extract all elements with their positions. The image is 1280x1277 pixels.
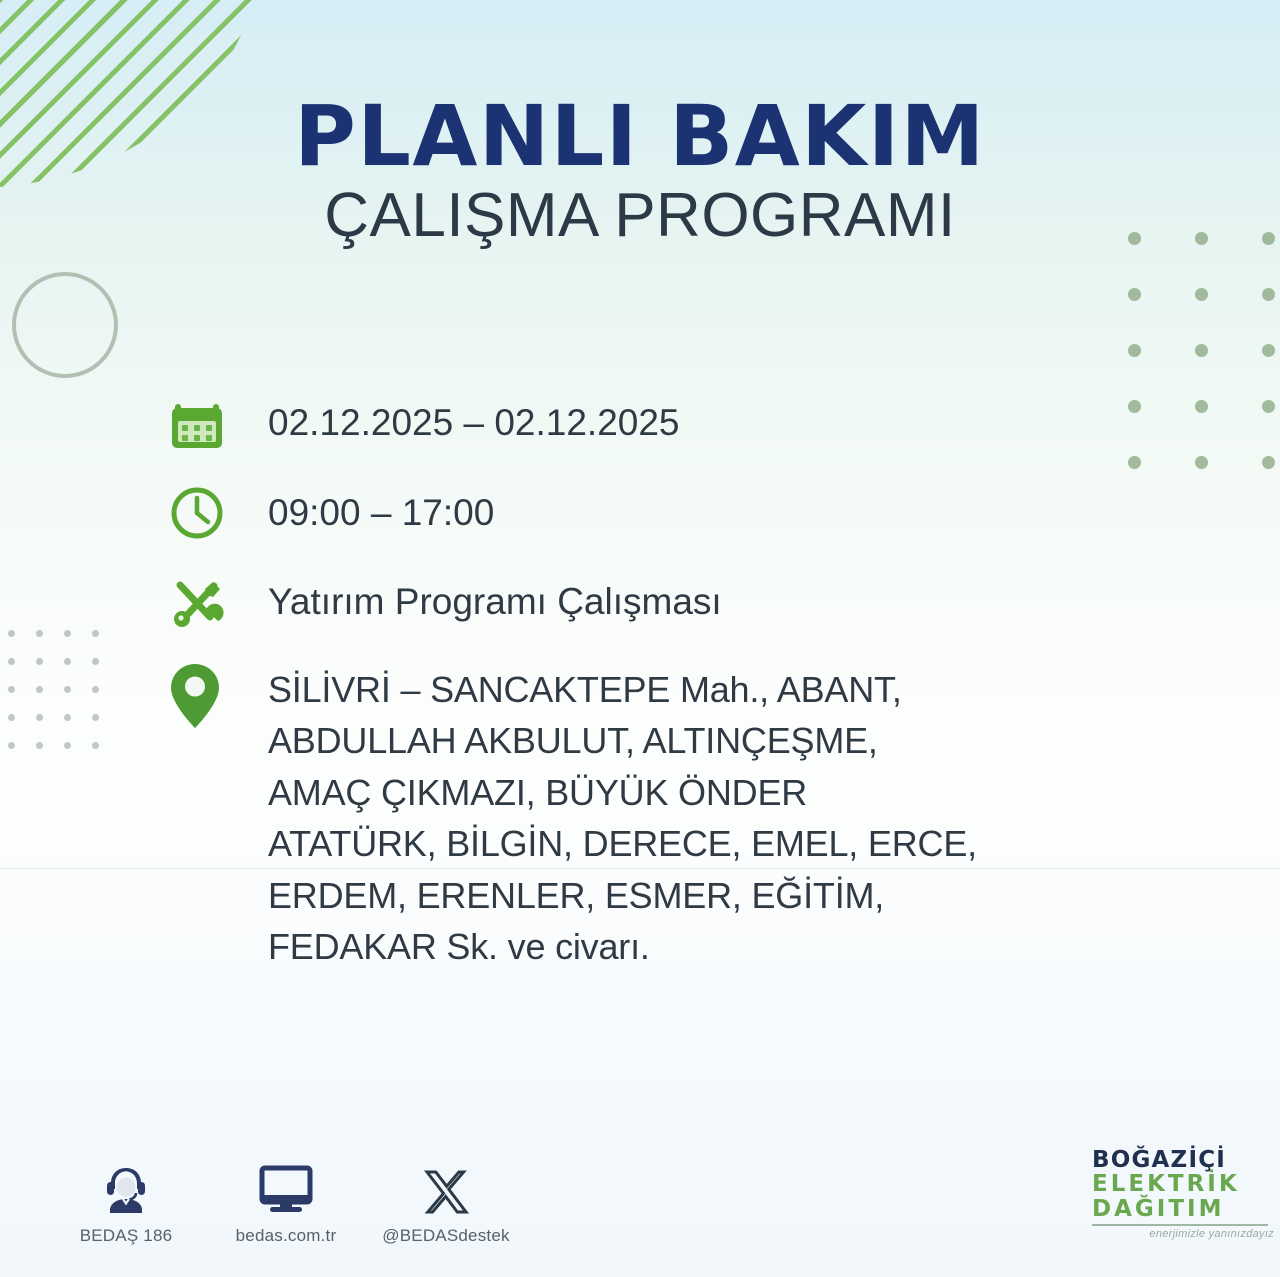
bedas-logo: BOĞAZİÇİ ELEKTRİK DAĞITIM enerjimizle ya…	[1092, 1148, 1274, 1240]
page-subtitle: ÇALIŞMA PROGRAMI	[0, 185, 1280, 247]
footer-link-call-center[interactable]: BEDAŞ 186	[46, 1158, 206, 1246]
address-line: SİLİVRİ – SANCAKTEPE Mah., ABANT,	[268, 664, 1108, 715]
planned-maintenance-poster: PLANLI BAKIM ÇALIŞMA PROGRAMI	[0, 0, 1280, 1277]
location-text: SİLİVRİ – SANCAKTEPE Mah., ABANT, ABDULL…	[230, 662, 1108, 973]
footer-link-label: bedas.com.tr	[206, 1226, 366, 1246]
address-line: FEDAKAR Sk. ve civarı.	[268, 921, 1108, 972]
detail-row-date: 02.12.2025 – 02.12.2025	[168, 392, 1108, 454]
decorative-dot	[36, 714, 43, 721]
address-line: AMAÇ ÇIKMAZI, BÜYÜK ÖNDER	[268, 767, 1108, 818]
detail-row-work-type: Yatırım Programı Çalışması	[168, 572, 1108, 634]
decorative-dot	[64, 742, 71, 749]
dot-grid-right-decoration	[1128, 232, 1280, 492]
page-title: PLANLI BAKIM	[0, 96, 1280, 177]
decorative-dot	[8, 630, 15, 637]
decorative-dot	[1128, 456, 1141, 469]
decorative-dot	[36, 630, 43, 637]
dot-grid-left-decoration	[8, 630, 118, 740]
brand-tagline: enerjimizle yanınızdayız	[1092, 1228, 1274, 1240]
decorative-dot	[92, 658, 99, 665]
brand-line-bogazici: BOĞAZİÇİ	[1092, 1148, 1274, 1172]
decorative-dot	[92, 686, 99, 693]
decorative-dot	[64, 686, 71, 693]
footer-link-website[interactable]: bedas.com.tr	[206, 1158, 366, 1246]
decorative-dot	[8, 742, 15, 749]
decorative-dot	[1128, 288, 1141, 301]
date-range-text: 02.12.2025 – 02.12.2025	[230, 392, 1108, 447]
detail-row-time: 09:00 – 17:00	[168, 482, 1108, 544]
footer-contact-links: BEDAŞ 186 bedas.com.tr @BEDASdestek	[46, 1158, 566, 1246]
brand-line-elektrik: ELEKTRİK	[1092, 1172, 1274, 1196]
decorative-dot	[92, 742, 99, 749]
decorative-dot	[64, 630, 71, 637]
decorative-dot	[1195, 456, 1208, 469]
decorative-dot	[92, 630, 99, 637]
address-line: ABDULLAH AKBULUT, ALTINÇEŞME,	[268, 715, 1108, 766]
footer-link-x[interactable]: @BEDASdestek	[366, 1158, 526, 1246]
work-type-text: Yatırım Programı Çalışması	[230, 572, 1108, 626]
address-line: ATATÜRK, BİLGİN, DERECE, EMEL, ERCE,	[268, 818, 1108, 869]
decorative-dot	[1195, 400, 1208, 413]
address-line: ERDEM, ERENLER, ESMER, EĞİTİM,	[268, 870, 1108, 921]
decorative-dot	[1262, 344, 1275, 357]
decorative-dot	[1195, 288, 1208, 301]
detail-row-location: SİLİVRİ – SANCAKTEPE Mah., ABANT, ABDULL…	[168, 662, 1108, 973]
decorative-dot	[36, 742, 43, 749]
footer-link-label: @BEDASdestek	[366, 1226, 526, 1246]
decorative-dot	[36, 686, 43, 693]
decorative-dot	[1262, 456, 1275, 469]
decorative-dot	[64, 658, 71, 665]
footer-link-label: BEDAŞ 186	[46, 1226, 206, 1246]
x-twitter-icon	[366, 1158, 526, 1218]
tools-icon	[168, 572, 230, 634]
clock-icon	[168, 482, 230, 544]
decorative-dot	[8, 658, 15, 665]
brand-line-dagitim: DAĞITIM	[1092, 1197, 1274, 1221]
decorative-dot	[1262, 288, 1275, 301]
decorative-dot	[8, 714, 15, 721]
decorative-dot	[1128, 344, 1141, 357]
maintenance-details: 02.12.2025 – 02.12.2025 09:00 – 17:00	[168, 392, 1108, 973]
map-pin-icon	[168, 666, 230, 728]
decorative-dot	[8, 686, 15, 693]
calendar-icon	[168, 392, 230, 454]
circle-outline-decoration	[12, 272, 118, 378]
decorative-dot	[36, 658, 43, 665]
poster-header: PLANLI BAKIM ÇALIŞMA PROGRAMI	[0, 96, 1280, 247]
brand-divider	[1092, 1224, 1268, 1226]
monitor-icon	[206, 1158, 366, 1218]
call-center-agent-icon	[46, 1158, 206, 1218]
decorative-dot	[1262, 400, 1275, 413]
time-range-text: 09:00 – 17:00	[230, 482, 1108, 537]
decorative-dot	[1195, 344, 1208, 357]
decorative-dot	[92, 714, 99, 721]
decorative-dot	[64, 714, 71, 721]
decorative-dot	[1128, 400, 1141, 413]
